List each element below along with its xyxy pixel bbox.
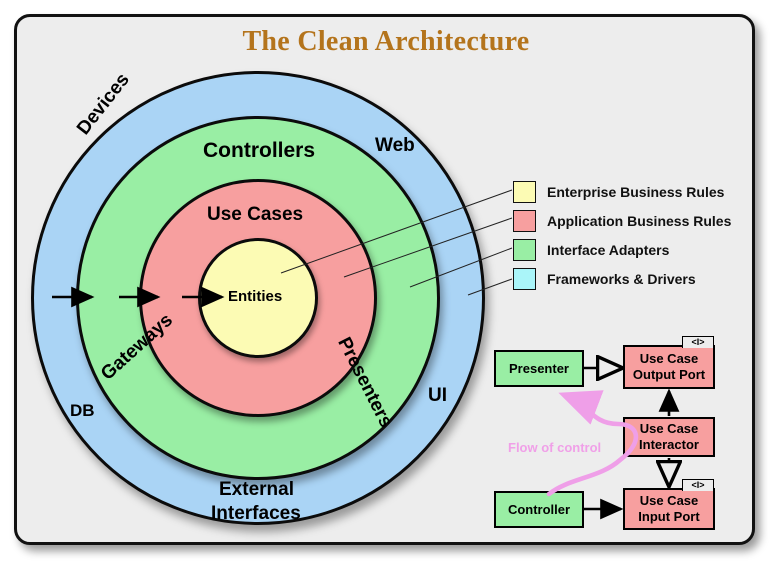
box-interactor-line2: Interactor <box>639 437 699 452</box>
interface-marker-icon: <I> <box>682 479 714 491</box>
ring-label-entities: Entities <box>228 288 282 305</box>
box-interactor-line1: Use Case <box>640 421 699 436</box>
box-output-port-label: Use Case Output Port <box>633 351 705 383</box>
box-output-port-line2: Output Port <box>633 367 705 382</box>
ring-label-use-cases: Use Cases <box>207 204 303 226</box>
legend-label-enterprise: Enterprise Business Rules <box>547 184 724 200</box>
legend-swatch-enterprise <box>513 181 536 203</box>
interface-marker-icon: <I> <box>682 336 714 348</box>
box-output-port-line1: Use Case <box>640 351 699 366</box>
box-input-port-line2: Input Port <box>638 509 699 524</box>
legend-item-adapters: Interface Adapters <box>513 236 731 263</box>
legend: Enterprise Business Rules Application Bu… <box>513 178 731 294</box>
legend-label-frameworks: Frameworks & Drivers <box>547 271 696 287</box>
box-controller: Controller <box>494 491 584 528</box>
legend-swatch-frameworks <box>513 268 536 290</box>
ring-label-db: DB <box>70 401 95 421</box>
box-presenter-label: Presenter <box>509 361 569 377</box>
flow-of-control-label: Flow of control <box>508 440 601 455</box>
legend-item-enterprise: Enterprise Business Rules <box>513 178 731 205</box>
legend-label-application: Application Business Rules <box>547 213 731 229</box>
legend-item-application: Application Business Rules <box>513 207 731 234</box>
box-input-port-line1: Use Case <box>640 493 699 508</box>
box-presenter: Presenter <box>494 350 584 387</box>
box-use-case-output-port: <I> Use Case Output Port <box>623 345 715 389</box>
ring-label-external: External <box>219 479 294 501</box>
ring-label-controllers: Controllers <box>203 139 315 163</box>
legend-swatch-adapters <box>513 239 536 261</box>
box-use-case-input-port: <I> Use Case Input Port <box>623 488 715 530</box>
legend-item-frameworks: Frameworks & Drivers <box>513 265 731 292</box>
ring-label-ui: UI <box>428 385 447 407</box>
legend-swatch-application <box>513 210 536 232</box>
diagram-canvas: The Clean Architecture Controllers Use C… <box>0 0 772 567</box>
box-controller-label: Controller <box>508 502 570 518</box>
box-use-case-interactor: Use Case Interactor <box>623 417 715 457</box>
legend-label-adapters: Interface Adapters <box>547 242 669 258</box>
box-interactor-label: Use Case Interactor <box>639 421 699 453</box>
page-title: The Clean Architecture <box>0 26 772 58</box>
box-input-port-label: Use Case Input Port <box>638 493 699 525</box>
ring-label-interfaces: Interfaces <box>211 503 301 525</box>
ring-label-web: Web <box>375 135 415 157</box>
